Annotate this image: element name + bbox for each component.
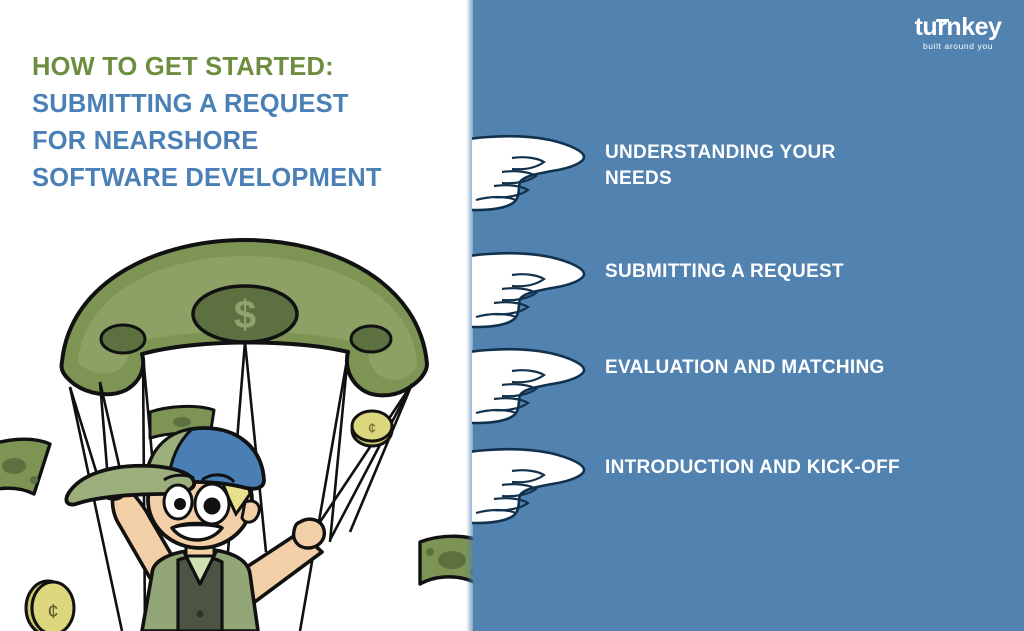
- logo-accent-bar: [936, 19, 949, 22]
- headline-line-3: FOR NEARSHORE: [32, 123, 452, 160]
- logo-tagline: built around you: [905, 41, 1011, 51]
- dollar-symbol: $: [234, 293, 256, 337]
- step-label-2: SUBMITTING A REQUEST: [605, 259, 844, 285]
- headline-line-4: SOFTWARE DEVELOPMENT: [32, 160, 452, 197]
- svg-text:¢: ¢: [368, 420, 376, 437]
- svg-text:¢: ¢: [47, 601, 58, 623]
- step-label-1: UNDERSTANDING YOUR NEEDS: [605, 140, 836, 192]
- pointing-hand-icon: [472, 441, 592, 526]
- headline: HOW TO GET STARTED: SUBMITTING A REQUEST…: [32, 49, 452, 197]
- step-label-1-line2: NEEDS: [605, 166, 836, 192]
- step-label-3: EVALUATION AND MATCHING: [605, 355, 885, 381]
- turnkey-logo[interactable]: turnkey built around you: [905, 14, 1011, 58]
- slide-root: $: [0, 0, 1024, 631]
- headline-line-2: SUBMITTING A REQUEST: [32, 86, 452, 123]
- step-label-1-line1: UNDERSTANDING YOUR: [605, 140, 836, 166]
- pointing-hand-icon: [472, 341, 592, 426]
- headline-line-1: HOW TO GET STARTED:: [32, 49, 452, 86]
- dollar-bill-parachute-icon: $: [62, 240, 428, 395]
- pointing-hand-icon: [472, 128, 592, 213]
- step-label-4: INTRODUCTION AND KICK-OFF: [605, 455, 900, 481]
- floating-coin-icon: ¢: [352, 411, 392, 446]
- floating-bill-icon: [0, 439, 50, 496]
- logo-wordmark: turnkey: [915, 14, 1002, 41]
- floating-coin-icon: ¢: [26, 581, 74, 631]
- pointing-hand-icon: [472, 245, 592, 330]
- parachute-illustration: $: [0, 222, 480, 631]
